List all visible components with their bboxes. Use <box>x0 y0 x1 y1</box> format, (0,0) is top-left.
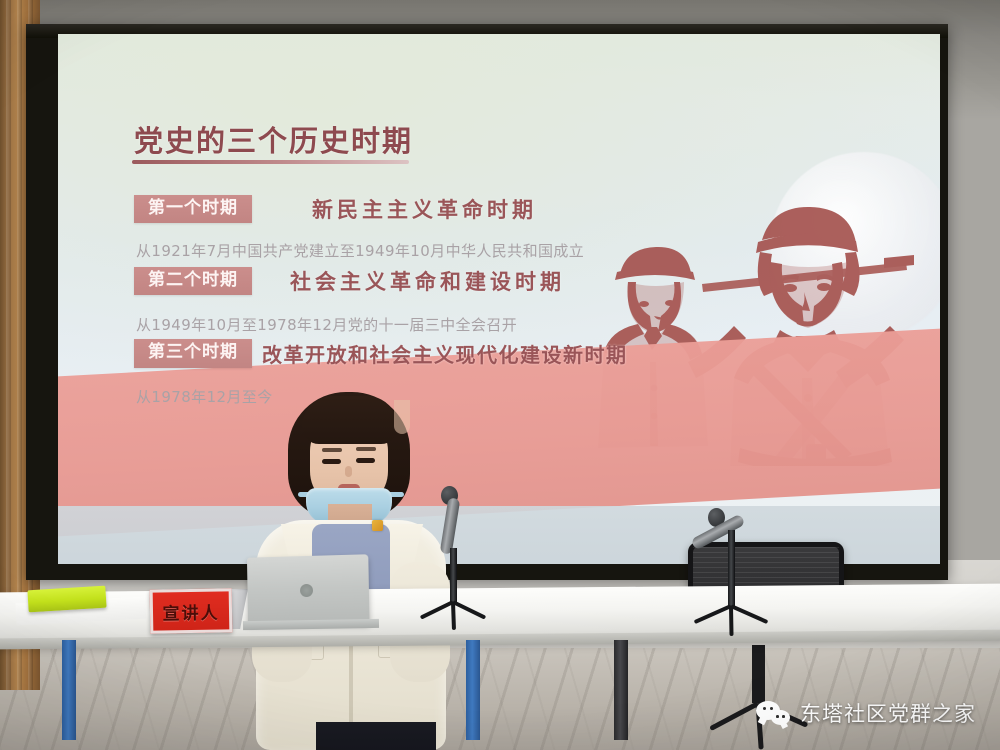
nose <box>345 466 352 477</box>
table-leg-left <box>62 640 76 740</box>
slide-title-underline <box>132 160 409 164</box>
slide-period-row-3: 第三个时期 改革开放和社会主义现代化建设新时期 <box>134 339 628 368</box>
period-caption-2: 从1949年10月至1978年12月党的十一届三中全会召开 <box>136 314 517 335</box>
period-caption-1: 从1921年7月中国共产党建立至1949年10月中华人民共和国成立 <box>136 240 584 261</box>
placard-label: 宣讲人 <box>162 598 219 624</box>
photo-scene: 党史的三个历史时期 第一个时期 新民主主义革命时期 从1921年7月中国共产党建… <box>0 0 1000 750</box>
period-chip-2: 第二个时期 <box>134 267 252 296</box>
table-leg-right <box>614 640 628 740</box>
period-chip-3: 第三个时期 <box>134 339 252 368</box>
period-name-3: 改革开放和社会主义现代化建设新时期 <box>262 339 628 368</box>
wechat-icon <box>756 701 790 725</box>
period-name-1: 新民主主义革命时期 <box>312 194 537 224</box>
speaker-name-placard: 宣讲人 <box>150 588 233 633</box>
period-chip-1: 第一个时期 <box>134 195 252 224</box>
watermark: 东塔社区党群之家 <box>756 698 976 728</box>
microphone-left <box>424 486 494 636</box>
period-name-2: 社会主义革命和建设时期 <box>290 266 565 296</box>
table-leg-middle <box>466 640 480 740</box>
hair-fringe <box>302 396 398 444</box>
slide-period-row-1: 第一个时期 新民主主义革命时期 <box>134 194 537 224</box>
microphone-right <box>702 500 772 640</box>
slide-period-row-2: 第二个时期 社会主义革命和建设时期 <box>134 266 565 296</box>
party-emblem-pin <box>372 520 383 531</box>
watermark-account-name: 东塔社区党群之家 <box>800 698 976 728</box>
slide-title: 党史的三个历史时期 <box>134 118 413 160</box>
laptop <box>247 554 370 624</box>
presentation-slide: 党史的三个历史时期 第一个时期 新民主主义革命时期 从1921年7月中国共产党建… <box>58 34 940 564</box>
legs <box>316 722 436 750</box>
laptop-logo <box>300 584 313 597</box>
